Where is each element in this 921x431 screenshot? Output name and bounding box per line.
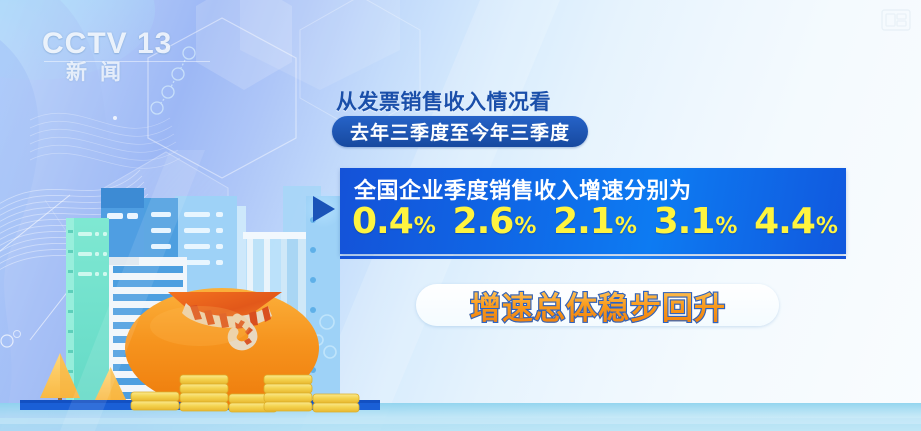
growth-rate-value: 4.4 bbox=[754, 203, 815, 241]
growth-rate-value: 0.4 bbox=[352, 203, 413, 241]
right-arrow-icon bbox=[313, 196, 335, 222]
coin-stack-1 bbox=[131, 392, 179, 410]
growth-rate-value: 2.6 bbox=[453, 203, 514, 241]
coin-stack-4 bbox=[264, 375, 312, 411]
growth-rate-unit: % bbox=[514, 214, 536, 239]
growth-rate-unit: % bbox=[615, 214, 637, 239]
statistics-banner: 全国企业季度销售收入增速分别为 0.4%2.6%2.1%3.1%4.4% bbox=[340, 168, 846, 254]
growth-rate-unit: % bbox=[414, 214, 436, 239]
growth-rate-value: 2.1 bbox=[553, 203, 614, 241]
conclusion-text-outline: 增速总体稳步回升 bbox=[438, 284, 758, 326]
banner-underline bbox=[340, 256, 846, 259]
growth-rate-item: 2.6% bbox=[453, 203, 537, 241]
growth-rate-item: 0.4% bbox=[352, 203, 436, 241]
coin-stack-2 bbox=[180, 375, 228, 411]
growth-rate-value: 3.1 bbox=[654, 203, 715, 241]
period-badge: 去年三季度至今年三季度 bbox=[332, 116, 588, 147]
growth-rate-item: 3.1% bbox=[654, 203, 738, 241]
broadcast-screen: CCTV 13 新闻 bbox=[0, 0, 921, 431]
growth-rate-unit: % bbox=[816, 214, 838, 239]
period-badge-label: 去年三季度至今年三季度 bbox=[350, 118, 570, 145]
growth-rate-list: 0.4%2.6%2.1%3.1%4.4% bbox=[352, 203, 838, 241]
coin-stack-5 bbox=[313, 394, 359, 412]
growth-rate-unit: % bbox=[715, 214, 737, 239]
page-title: 从发票销售收入情况看 bbox=[336, 86, 551, 116]
growth-rate-item: 2.1% bbox=[553, 203, 637, 241]
growth-rate-item: 4.4% bbox=[754, 203, 838, 241]
